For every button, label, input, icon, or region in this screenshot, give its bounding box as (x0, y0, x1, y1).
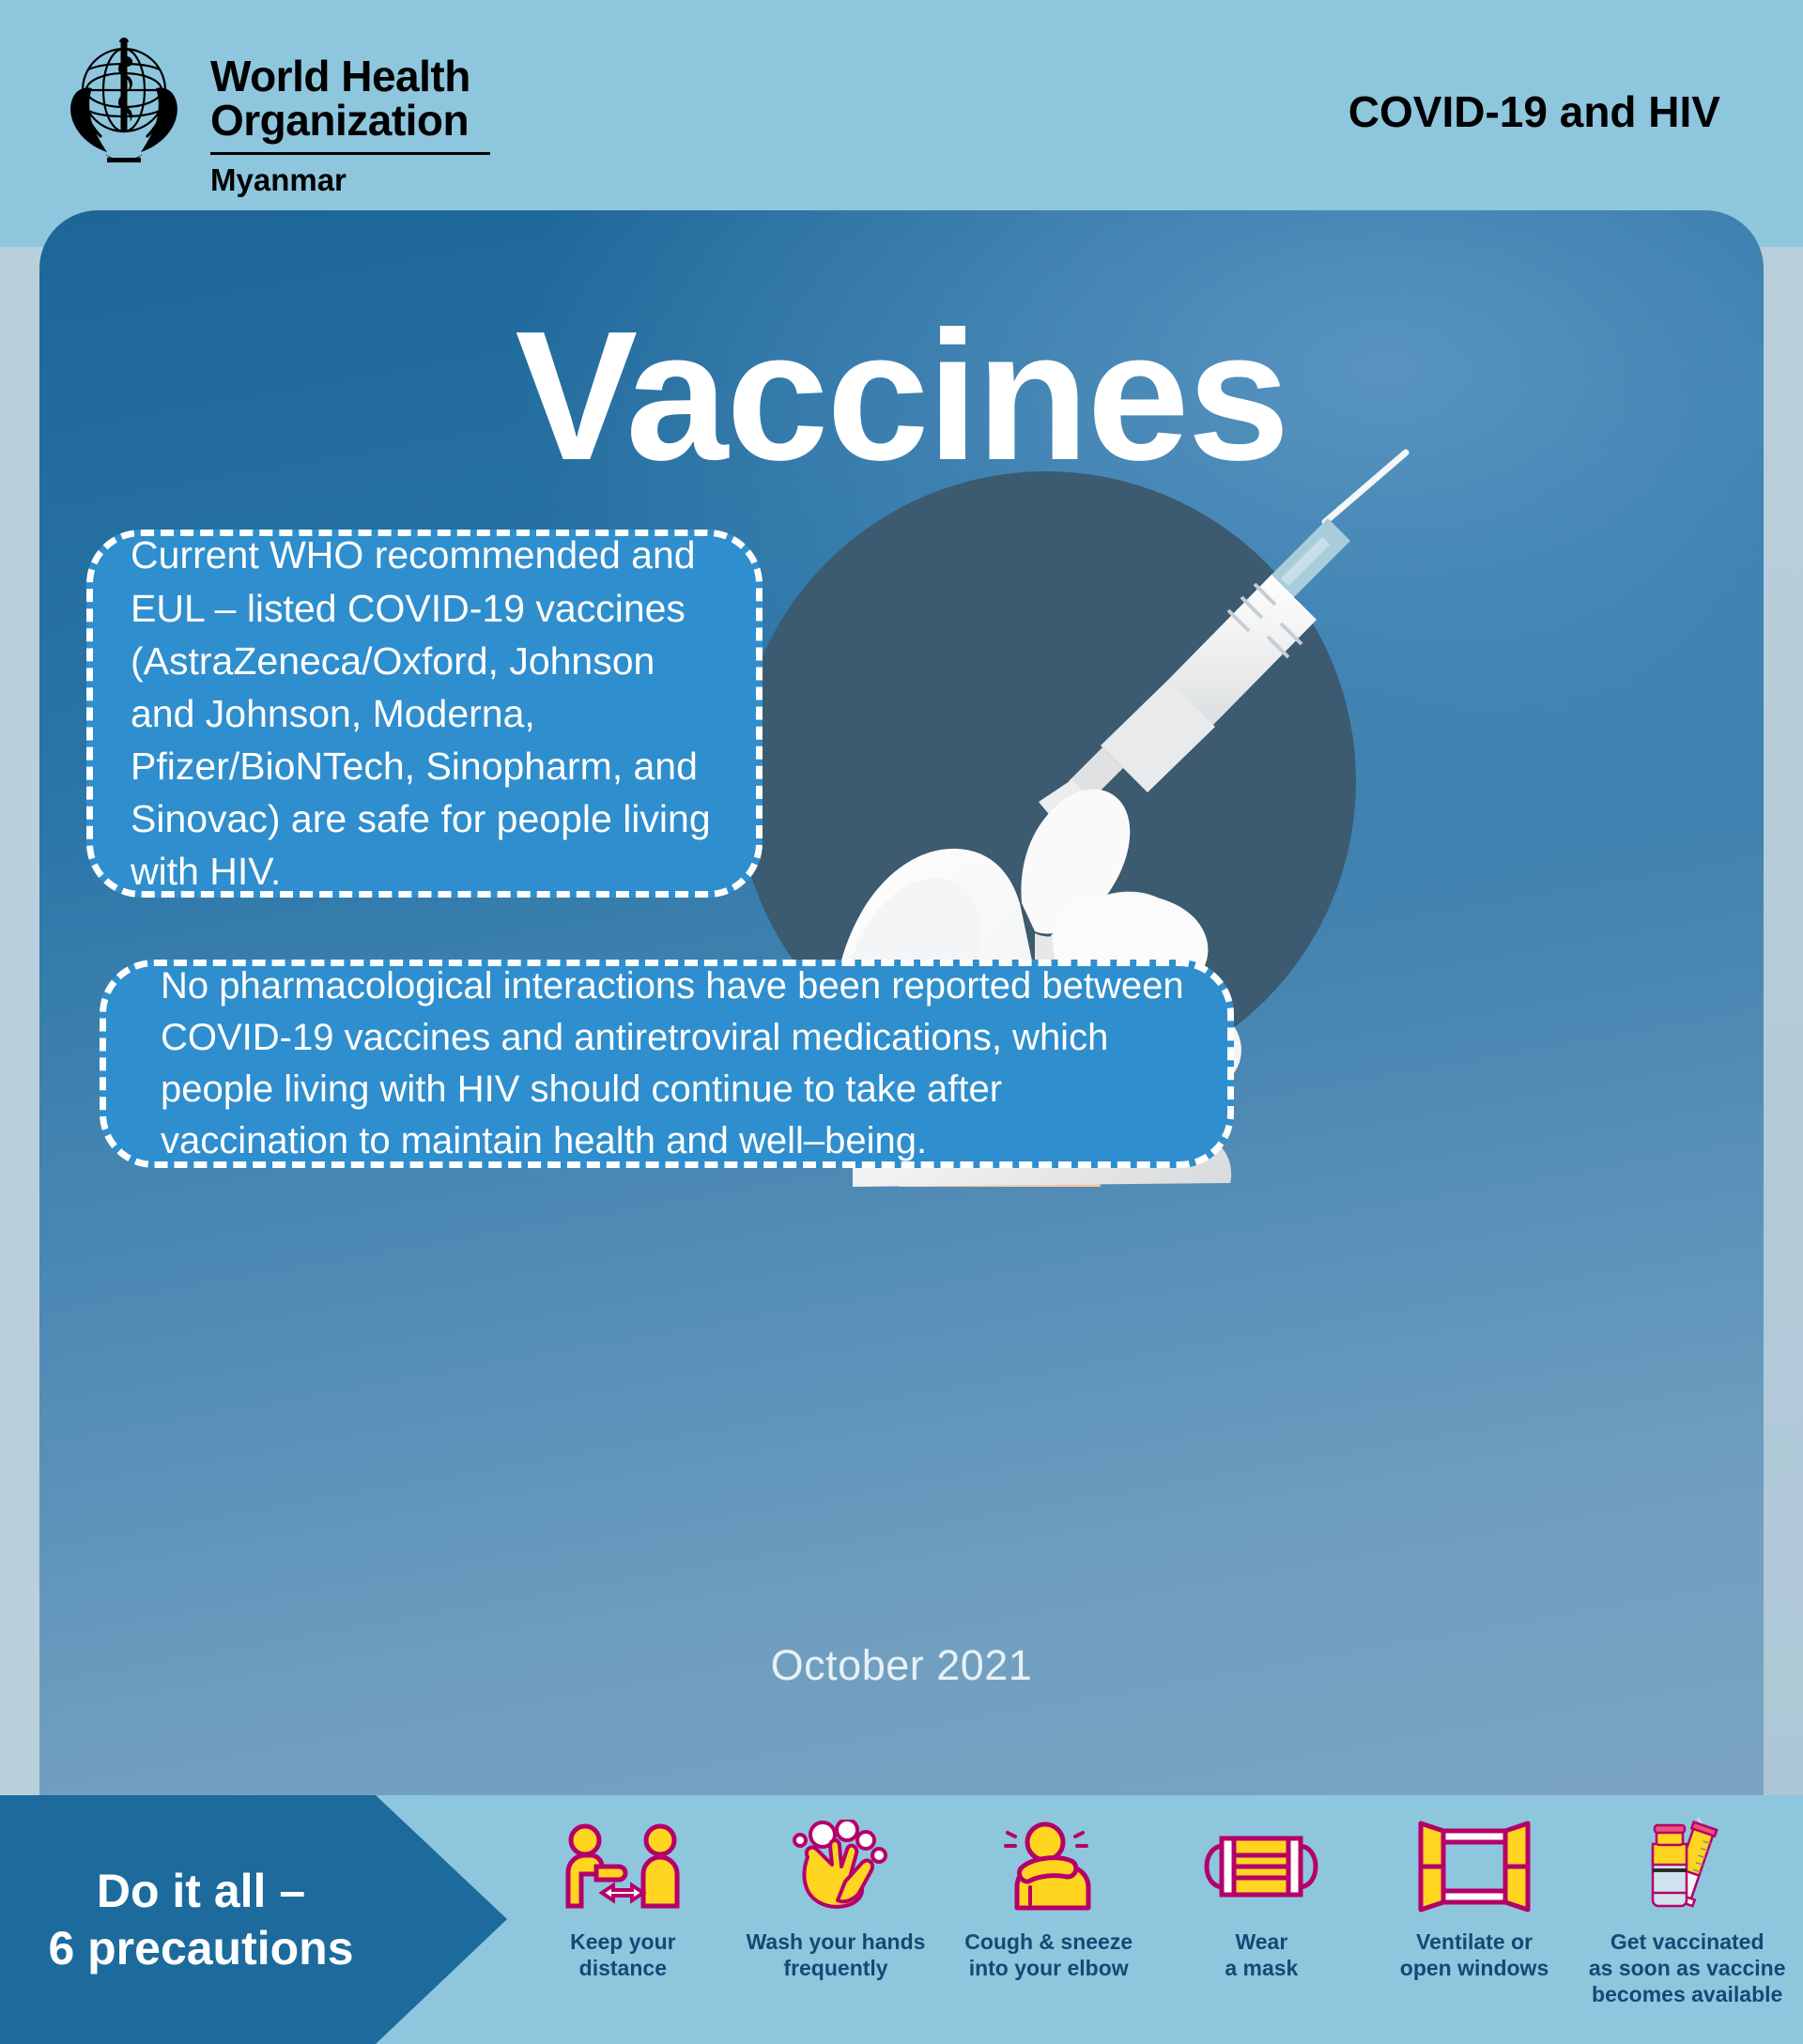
who-wordmark: World Health Organization Myanmar (210, 28, 490, 198)
precaution-wear-mask: Wear a mask (1155, 1812, 1368, 1981)
who-org-line-2: Organization (210, 99, 490, 143)
callout-no-interactions: No pharmacological interactions have bee… (100, 960, 1234, 1168)
precaution-get-vaccinated: Get vaccinated as soon as vaccine become… (1580, 1812, 1794, 2007)
callout-text: Current WHO recommended and EUL – listed… (93, 529, 756, 898)
publication-date: October 2021 (39, 1641, 1764, 1690)
banner-line-2: 6 precautions (0, 1920, 376, 1977)
vaccine-vial-syringe-icon (1636, 1812, 1739, 1913)
do-it-all-banner: Do it all – 6 precautions (0, 1795, 507, 2044)
keep-distance-icon (561, 1812, 685, 1913)
left-background-strip (0, 247, 39, 1795)
precaution-items: Keep your distance (488, 1795, 1803, 2044)
face-mask-icon (1195, 1812, 1327, 1913)
topic-title: COVID-19 and HIV (1348, 86, 1720, 137)
callout-vaccines-safe: Current WHO recommended and EUL – listed… (86, 530, 763, 898)
precautions-bar: Do it all – 6 precautions (0, 1795, 1803, 2044)
precaution-label: Wash your hands frequently (747, 1929, 926, 1981)
callout-text: No pharmacological interactions have bee… (106, 961, 1227, 1168)
who-org-line-1: World Health (210, 54, 490, 99)
banner-line-1: Do it all – (0, 1863, 376, 1920)
precaution-label: Ventilate or open windows (1400, 1929, 1549, 1981)
precaution-ventilate: Ventilate or open windows (1368, 1812, 1581, 1981)
cough-into-elbow-icon (993, 1812, 1105, 1913)
precaution-label: Wear a mask (1225, 1929, 1298, 1981)
precaution-label: Cough & sneeze into your elbow (964, 1929, 1133, 1981)
who-emblem-icon (58, 28, 190, 171)
precaution-keep-distance: Keep your distance (516, 1812, 730, 1981)
who-logo: World Health Organization Myanmar (58, 28, 490, 198)
who-country-label: Myanmar (210, 162, 490, 198)
open-window-icon (1415, 1812, 1533, 1913)
precaution-label: Keep your distance (570, 1929, 675, 1981)
who-divider (210, 152, 490, 155)
precaution-wash-hands: Wash your hands frequently (730, 1812, 943, 1981)
precaution-cough-elbow: Cough & sneeze into your elbow (942, 1812, 1155, 1981)
right-background-strip (1764, 247, 1803, 1795)
main-panel: Vaccines (39, 210, 1764, 1795)
precaution-label: Get vaccinated as soon as vaccine become… (1589, 1929, 1786, 2007)
wash-hands-icon (779, 1812, 892, 1913)
